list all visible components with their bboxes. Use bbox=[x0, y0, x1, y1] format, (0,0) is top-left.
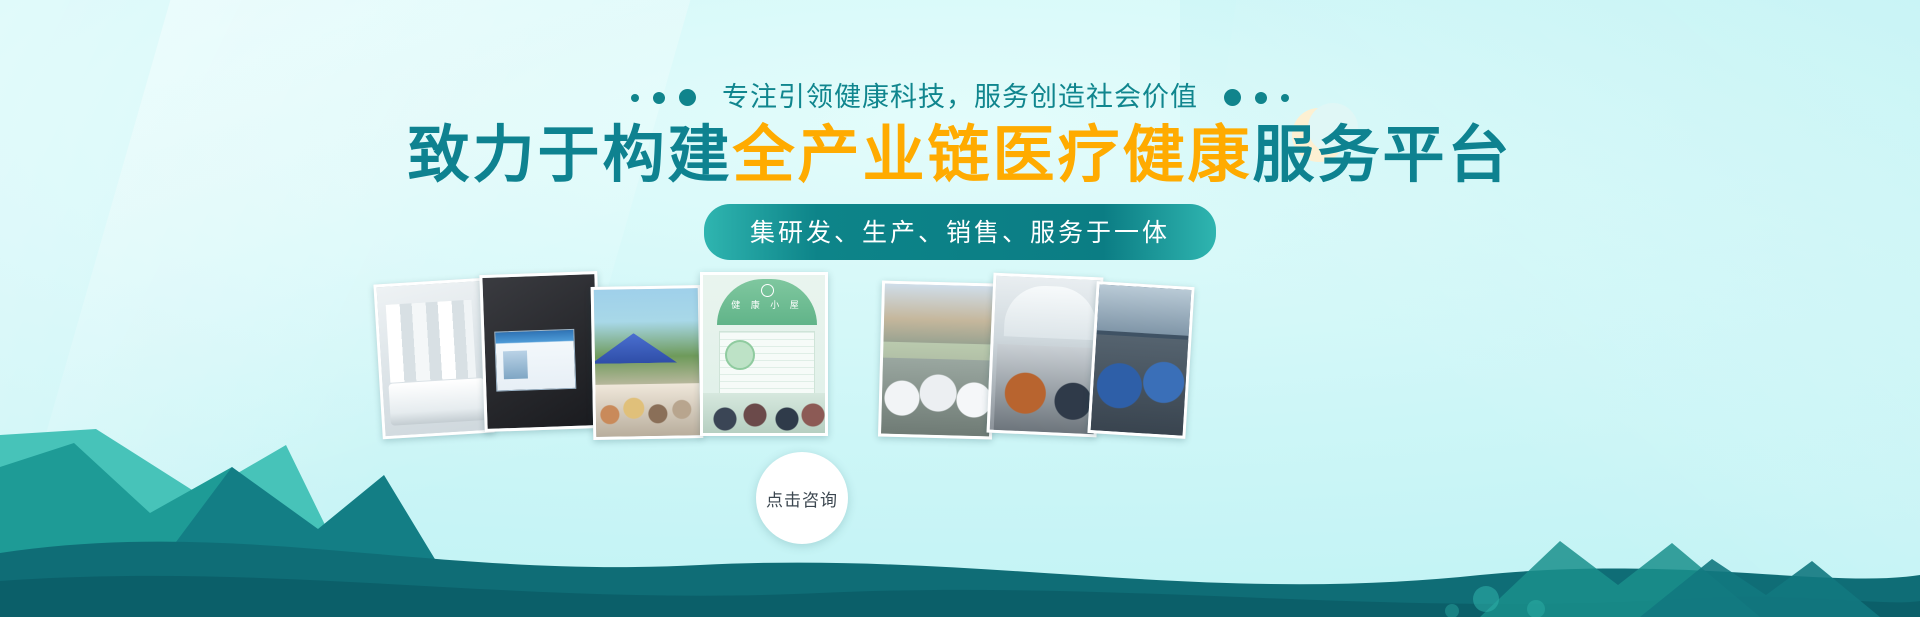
banner-headline: 致力于构建全产业链医疗健康服务平台 bbox=[0, 122, 1920, 190]
consult-cta-label: 点击咨询 bbox=[766, 486, 838, 511]
headline-part-3: 服务平台 bbox=[1253, 121, 1513, 190]
photo-health-screening-monitor[interactable] bbox=[479, 271, 602, 432]
headline-part-2-highlight: 全产业链医疗健康 bbox=[732, 121, 1252, 190]
dot-medium-icon bbox=[1255, 92, 1267, 104]
health-cabin-info-board bbox=[719, 331, 815, 401]
badge-wrapper: 集研发、生产、销售、服务于一体 bbox=[0, 204, 1920, 260]
decor-dots-right bbox=[1224, 89, 1289, 106]
decor-dots-left bbox=[631, 89, 696, 106]
health-cabin-sign-text: 健 康 小 屋 bbox=[717, 298, 817, 311]
photo-outdoor-medical-tent-crowd[interactable] bbox=[591, 285, 704, 440]
photo-strip: 健 康 小 屋 bbox=[0, 270, 1920, 470]
dot-medium-icon bbox=[653, 92, 665, 104]
consult-cta-button[interactable]: 点击咨询 bbox=[756, 452, 848, 544]
health-platform-hero-banner: 专注引领健康科技，服务创造社会价值 致力于构建全产业链医疗健康服务平台 集研发、… bbox=[0, 0, 1920, 617]
dot-small-icon bbox=[1281, 94, 1289, 102]
subtitle-row: 专注引领健康科技，服务创造社会价值 bbox=[0, 84, 1920, 111]
banner-subtitle: 专注引领健康科技，服务创造社会价值 bbox=[722, 84, 1198, 111]
photo-blue-uniform-workers[interactable] bbox=[1087, 281, 1194, 439]
photo-technician-operating-machine[interactable] bbox=[987, 273, 1104, 438]
headline-part-1: 致力于构建 bbox=[407, 121, 732, 190]
photo-doctors-outdoor-service[interactable] bbox=[878, 281, 996, 440]
health-cabin-logo-icon bbox=[761, 284, 774, 297]
dot-small-icon bbox=[631, 94, 639, 102]
health-cabin-visitors bbox=[703, 393, 828, 433]
capability-badge: 集研发、生产、销售、服务于一体 bbox=[704, 204, 1216, 260]
photo-lab-equipment-room[interactable] bbox=[373, 278, 494, 440]
photo-health-cabin-booth[interactable]: 健 康 小 屋 bbox=[700, 272, 828, 436]
dot-large-icon bbox=[1224, 89, 1241, 106]
dot-large-icon bbox=[679, 89, 696, 106]
health-cabin-arch: 健 康 小 屋 bbox=[717, 279, 817, 325]
